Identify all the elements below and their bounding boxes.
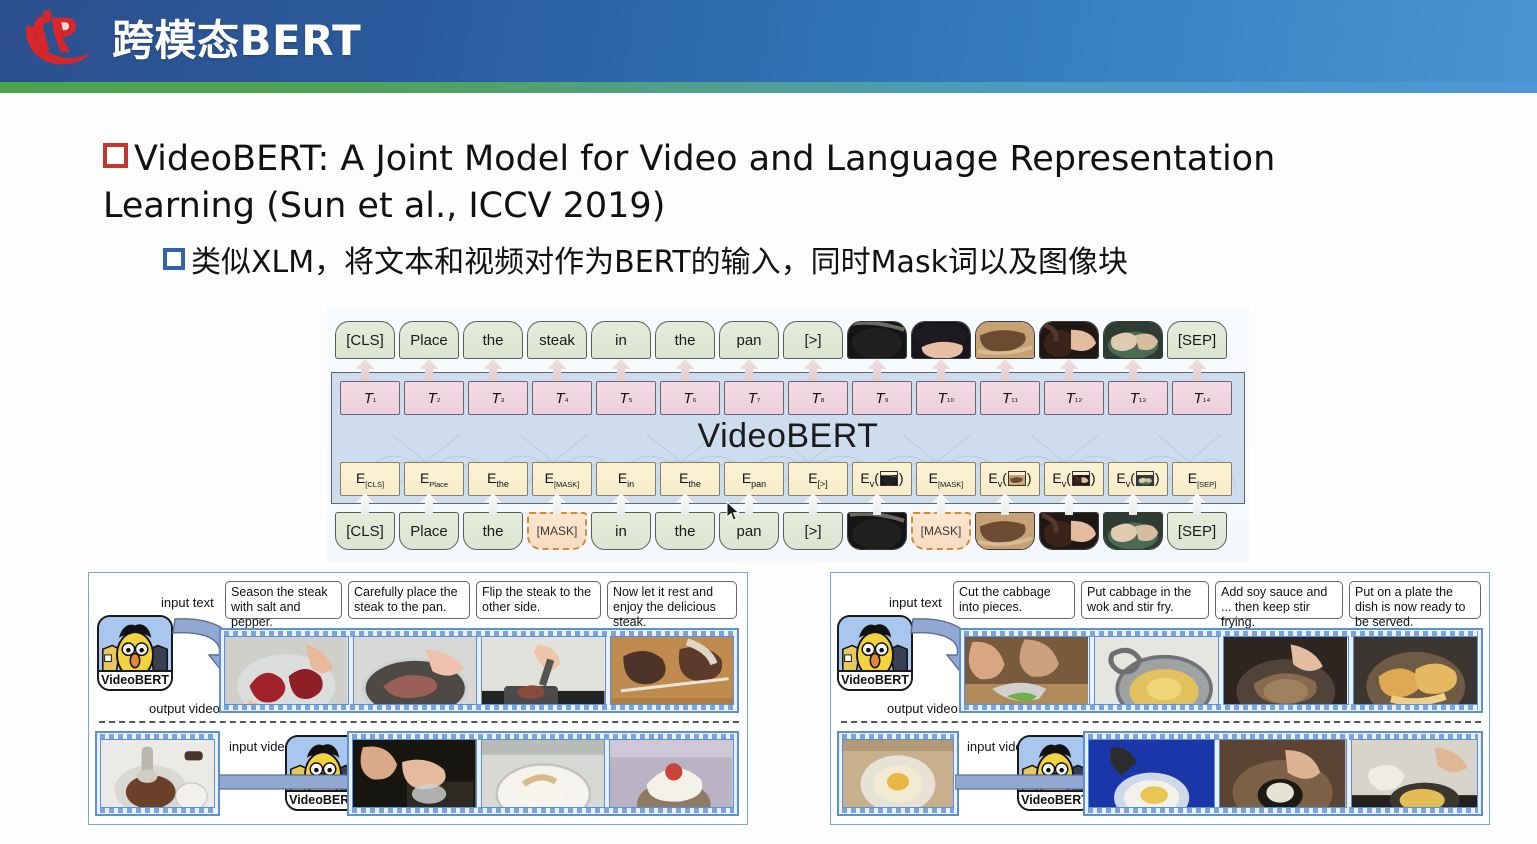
- output-token-6: pan: [719, 321, 779, 359]
- video-frame-thumb: [1040, 322, 1098, 358]
- input-token-13: [SEP]: [1167, 512, 1227, 550]
- input-token-11: [1039, 512, 1099, 550]
- bullet-level-1-text: VideoBERT: A Joint Model for Video and L…: [103, 139, 1275, 226]
- embedding-0: E[CLS]: [340, 462, 400, 496]
- video-frame-thumb: [1104, 513, 1162, 549]
- left-caption-4: Now let it rest and enjoy the delicious …: [607, 581, 737, 619]
- transformer-token-4: T₅: [596, 381, 656, 415]
- embedding-6: Epan: [724, 462, 784, 496]
- input-token-1: Place: [399, 512, 459, 550]
- embedding-9: E[MASK]: [916, 462, 976, 496]
- output-token-11: [1039, 321, 1099, 359]
- left-future-frame-1: [352, 739, 477, 808]
- model-name-label: VideoBERT: [332, 417, 1244, 456]
- right-future-frame-3: [1351, 739, 1478, 808]
- bullet-marker-red: [103, 143, 128, 168]
- transformer-token-8: T₉: [852, 381, 912, 415]
- transformer-token-12: T₁₃: [1108, 381, 1168, 415]
- transformer-token-10: T₁₁: [980, 381, 1040, 415]
- bullet-level-2-text: 类似XLM，将文本和视频对作为BERT的输入，同时Mask词以及图像块: [191, 245, 1128, 280]
- left-future-frame-2: [481, 739, 606, 808]
- right-videobert-mascot-row1: VideoBERT: [837, 615, 913, 691]
- right-frame-4: [1353, 636, 1479, 705]
- transformer-token-9: T₁₀: [916, 381, 976, 415]
- output-token-7: [>]: [783, 321, 843, 359]
- transformer-token-5: T₆: [660, 381, 720, 415]
- embedding-row: E[CLS]EPlaceEtheE[MASK]EinEtheEpanE[>]Ev…: [340, 462, 1232, 496]
- header-accent-bar: [0, 82, 1537, 93]
- transformer-token-6: T₇: [724, 381, 784, 415]
- right-output-video-label: output video: [887, 701, 958, 716]
- input-token-10: [975, 512, 1035, 550]
- output-token-3: steak: [527, 321, 587, 359]
- videobert-core-block: T₁T₂T₃T₄T₅T₆T₇T₈T₉T₁₀T₁₁T₁₂T₁₃T₁₄ VideoB…: [331, 372, 1245, 504]
- right-panel-divider: [841, 721, 1481, 723]
- left-panel-divider: [99, 721, 739, 723]
- embedding-8: Ev(): [852, 462, 912, 496]
- video-frame-thumb: [976, 513, 1034, 549]
- slide-root: 跨模态BERT VideoBERT: A Joint Model for Vid…: [0, 0, 1537, 844]
- bullet-marker-blue: [163, 248, 185, 270]
- input-token-9: [MASK]: [911, 512, 971, 550]
- video-frame-thumb: [1136, 471, 1154, 486]
- left-caption-2: Carefully place the steak to the pan.: [348, 581, 470, 619]
- input-token-4: in: [591, 512, 651, 550]
- left-input-frame: [100, 739, 215, 808]
- left-frame-3: [481, 636, 606, 705]
- transformer-token-0: T₁: [340, 381, 400, 415]
- transformer-token-2: T₃: [468, 381, 528, 415]
- output-token-4: in: [591, 321, 651, 359]
- embedding-13: E[SEP]: [1172, 462, 1232, 496]
- right-input-text-label: input text: [889, 595, 942, 610]
- input-token-8: [847, 512, 907, 550]
- left-frame-2: [353, 636, 478, 705]
- embedding-10: Ev(): [980, 462, 1040, 496]
- right-input-frame: [842, 739, 954, 808]
- left-output-video-label: output video: [149, 701, 220, 716]
- video-frame-thumb: [1104, 322, 1162, 358]
- left-frame-1: [224, 636, 349, 705]
- left-future-video-strip: [347, 731, 739, 816]
- right-caption-2: Put cabbage in the wok and stir fry.: [1081, 581, 1209, 619]
- transformer-token-1: T₂: [404, 381, 464, 415]
- right-frame-1: [964, 636, 1090, 705]
- video-frame-thumb: [1072, 471, 1090, 486]
- output-token-13: [SEP]: [1167, 321, 1227, 359]
- right-output-video-strip: [959, 628, 1483, 713]
- embedding-4: Ein: [596, 462, 656, 496]
- input-token-row: [CLS]Placethe[MASK]inthepan[>][MASK][SEP…: [335, 512, 1227, 550]
- left-input-text-label: input text: [161, 595, 214, 610]
- bullet-level-2: 类似XLM，将文本和视频对作为BERT的输入，同时Mask词以及图像块: [163, 243, 1463, 283]
- left-input-video-strip: [95, 731, 220, 816]
- right-mascot-label-row1: VideoBERT: [839, 670, 911, 689]
- output-token-1: Place: [399, 321, 459, 359]
- ir-logo-icon: [20, 10, 98, 72]
- embedding-12: Ev(): [1108, 462, 1168, 496]
- left-input-video-label-row2: input video: [229, 739, 292, 755]
- input-token-5: the: [655, 512, 715, 550]
- right-frame-3: [1223, 636, 1349, 705]
- right-future-frame-1: [1088, 739, 1215, 808]
- transformer-token-3: T₄: [532, 381, 592, 415]
- output-token-9: [911, 321, 971, 359]
- left-output-video-strip: [219, 628, 739, 713]
- input-token-0: [CLS]: [335, 512, 395, 550]
- right-future-frame-2: [1219, 739, 1346, 808]
- output-token-10: [975, 321, 1035, 359]
- transformer-token-row: T₁T₂T₃T₄T₅T₆T₇T₈T₉T₁₀T₁₁T₁₂T₁₃T₁₄: [340, 381, 1232, 415]
- video-frame-thumb: [848, 322, 906, 358]
- embedding-5: Ethe: [660, 462, 720, 496]
- left-future-frame-3: [609, 739, 734, 808]
- transformer-token-11: T₁₂: [1044, 381, 1104, 415]
- embedding-2: Ethe: [468, 462, 528, 496]
- right-frame-2: [1094, 636, 1220, 705]
- right-caption-4: Put on a plate the dish is now ready to …: [1349, 581, 1481, 619]
- video-frame-thumb: [976, 322, 1034, 358]
- video-frame-thumb: [848, 513, 906, 549]
- transformer-token-7: T₈: [788, 381, 848, 415]
- input-token-7: [>]: [783, 512, 843, 550]
- output-token-8: [847, 321, 907, 359]
- video-frame-thumb: [880, 471, 898, 486]
- output-token-2: the: [463, 321, 523, 359]
- video-frame-thumb: [912, 322, 970, 358]
- transformer-token-13: T₁₄: [1172, 381, 1232, 415]
- embedding-7: E[>]: [788, 462, 848, 496]
- output-token-row: [CLS]Placethesteakinthepan[>][SEP]: [335, 321, 1227, 359]
- input-token-2: the: [463, 512, 523, 550]
- bullet-level-1: VideoBERT: A Joint Model for Video and L…: [103, 136, 1433, 230]
- example-panel-left: input text Season the steak with salt an…: [88, 572, 748, 825]
- example-panel-right: input text Cut the cabbage into pieces. …: [830, 572, 1490, 825]
- output-token-5: the: [655, 321, 715, 359]
- left-frame-4: [610, 636, 735, 705]
- videobert-architecture-diagram: [CLS]Placethesteakinthepan[>][SEP]: [327, 307, 1249, 562]
- output-token-12: [1103, 321, 1163, 359]
- input-token-12: [1103, 512, 1163, 550]
- video-frame-thumb: [1008, 471, 1026, 486]
- left-videobert-mascot-row1: VideoBERT: [97, 615, 173, 691]
- embedding-11: Ev(): [1044, 462, 1104, 496]
- right-input-video-strip: [837, 731, 959, 816]
- mouse-pointer-icon: [726, 501, 740, 522]
- embedding-1: EPlace: [404, 462, 464, 496]
- right-caption-3: Add soy sauce and ... then keep stir fry…: [1215, 581, 1343, 619]
- left-caption-3: Flip the steak to the other side.: [476, 581, 601, 619]
- header-title: 跨模态BERT: [112, 10, 361, 72]
- input-token-3: [MASK]: [527, 512, 587, 550]
- left-mascot-label-row1: VideoBERT: [99, 670, 171, 689]
- output-token-0: [CLS]: [335, 321, 395, 359]
- embedding-3: E[MASK]: [532, 462, 592, 496]
- right-future-video-strip: [1083, 731, 1483, 816]
- video-frame-thumb: [1040, 513, 1098, 549]
